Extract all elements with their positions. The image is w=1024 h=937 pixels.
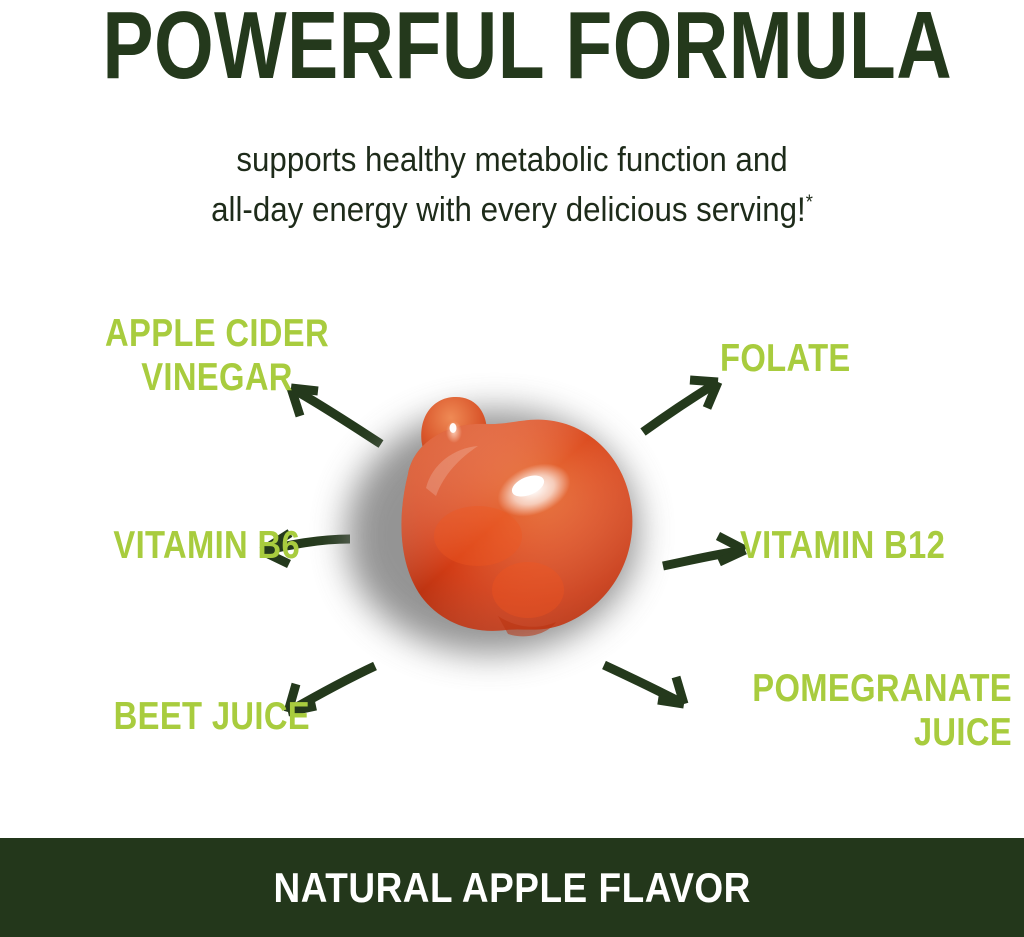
flavor-banner-text: NATURAL APPLE FLAVOR — [273, 864, 750, 912]
subtitle: supports healthy metabolic function and … — [41, 135, 983, 235]
ingredient-label-folate: FOLATE — [720, 337, 972, 381]
ingredient-label-apple-cider-vinegar: APPLE CIDER VINEGAR — [78, 312, 355, 400]
ingredient-label-pomegranate-juice: POMEGRANATE JUICE — [700, 667, 1012, 755]
subtitle-line-2: all-day energy with every delicious serv… — [41, 185, 983, 235]
page-title: POWERFUL FORMULA — [102, 0, 921, 96]
ingredient-label-vitamin-b12: VITAMIN B12 — [740, 524, 992, 568]
subtitle-line-2-text: all-day energy with every delicious serv… — [211, 191, 806, 229]
arrow-pomegranate-juice — [604, 665, 684, 704]
product-infographic: POWERFUL FORMULA supports healthy metabo… — [0, 0, 1024, 937]
ingredient-label-beet-juice: BEET JUICE — [50, 695, 310, 739]
apple-gummy-icon — [356, 378, 656, 646]
asterisk-marker: * — [806, 192, 813, 214]
ingredient-label-vitamin-b6: VITAMIN B6 — [48, 524, 300, 568]
flavor-banner: NATURAL APPLE FLAVOR — [0, 838, 1024, 937]
product-image — [330, 350, 690, 670]
subtitle-line-1: supports healthy metabolic function and — [41, 135, 983, 185]
